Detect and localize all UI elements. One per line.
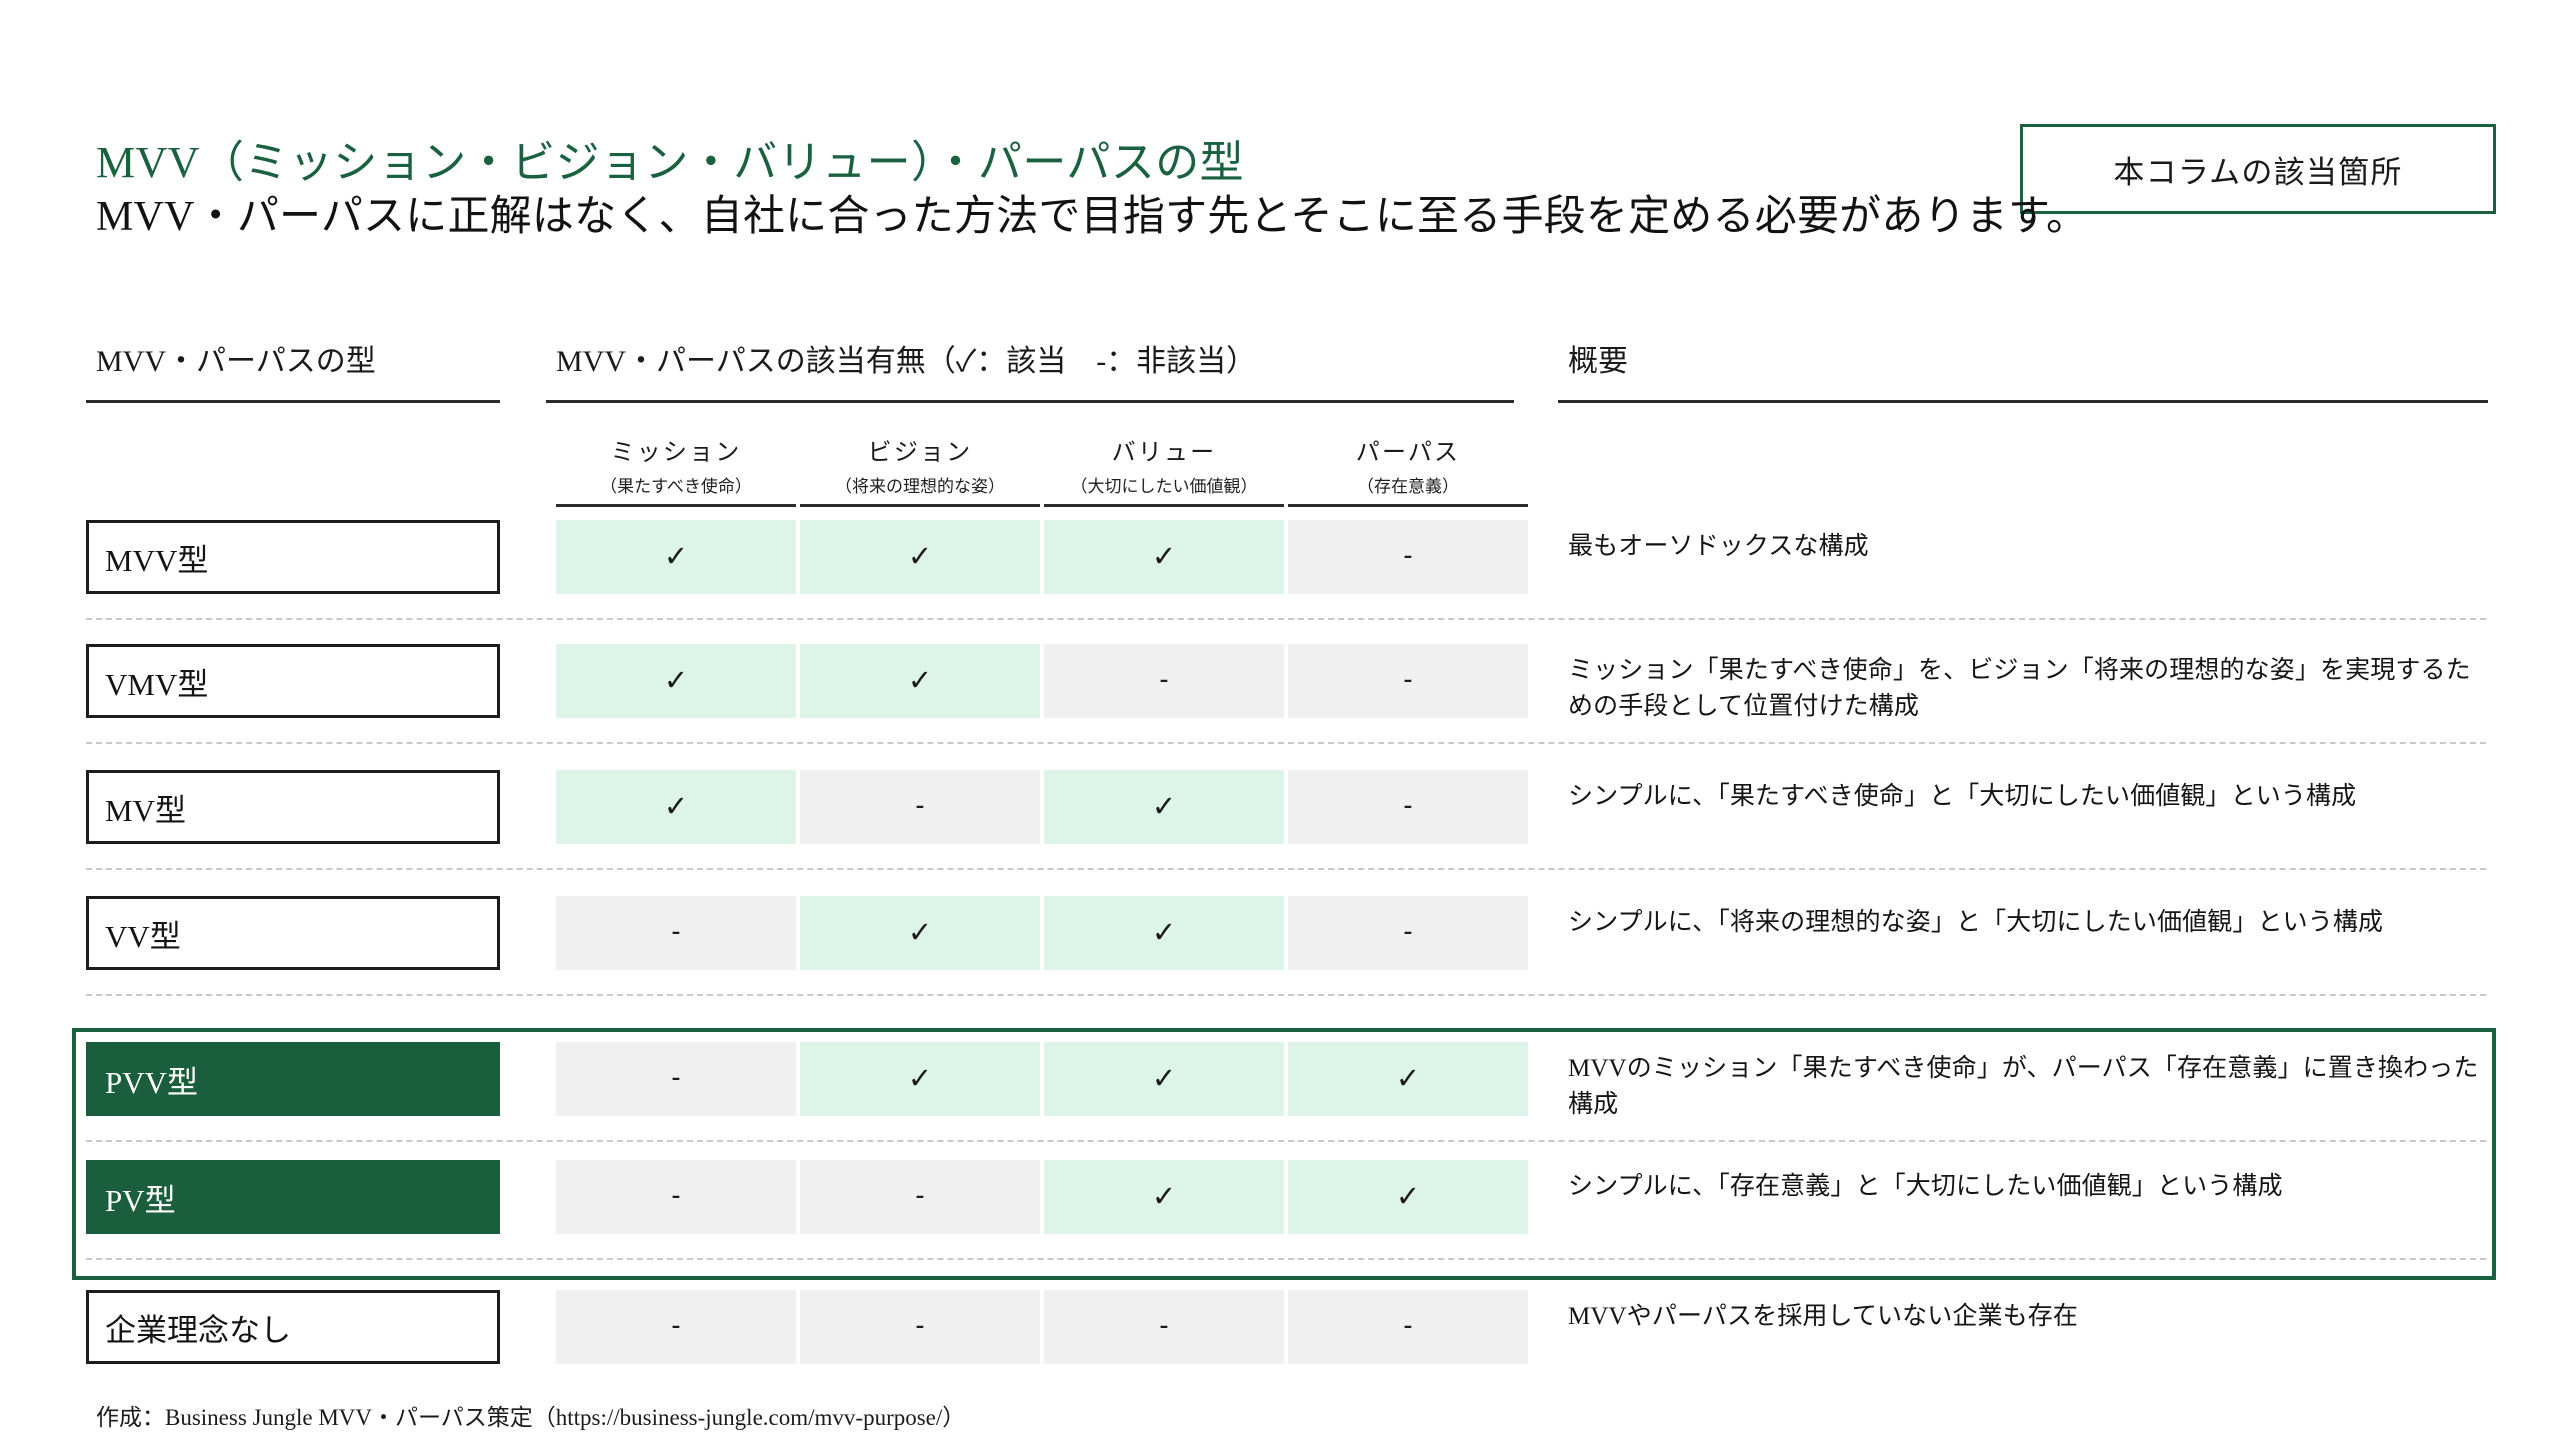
subheader-1: ミッション（果たすべき使命） [556,432,796,497]
row-type-label: MV型 [89,785,186,830]
mark-cell: ✓ [556,520,796,594]
mark-cell: - [800,770,1040,844]
mark-cell: ✓ [800,520,1040,594]
row-separator [86,618,2486,620]
row-type-label: VV型 [89,911,181,956]
dash-icon: - [1160,1312,1169,1338]
header-rule-type [86,400,500,403]
row-description: MVVやパーパスを採用していない企業も存在 [1568,1299,2488,1335]
row-description: シンプルに、「存在意義」と「大切にしたい価値観」という構成 [1568,1169,2488,1205]
row-description: 最もオーソドックスな構成 [1568,529,2488,565]
mark-cell: - [1044,1290,1284,1364]
subheader-2: ビジョン（将来の理想的な姿） [800,432,1040,497]
mark-cell: - [556,1160,796,1234]
row-separator [86,868,2486,870]
row-separator [86,742,2486,744]
dash-icon: - [916,1312,925,1338]
check-icon: ✓ [1152,543,1176,572]
row-type-box[interactable]: MV型 [86,770,500,844]
check-icon: ✓ [664,667,688,696]
mark-cell: ✓ [1044,520,1284,594]
header-match-column: MVV・パーパスの該当有無（✓：該当 -：非該当） [556,336,1256,380]
check-icon: ✓ [908,919,932,948]
mark-cell: - [556,1042,796,1116]
row-description: MVVのミッション「果たすべき使命」が、パーパス「存在意義」に置き換わった構成 [1568,1051,2488,1124]
header-summary-column: 概要 [1568,336,1628,380]
subheader-rule-4 [1288,504,1528,507]
mark-cell: ✓ [1044,1160,1284,1234]
mark-cell: ✓ [1044,1042,1284,1116]
header-rule-summary [1558,400,2488,403]
check-icon: ✓ [1152,919,1176,948]
mark-cell: ✓ [556,770,796,844]
dash-icon: - [1404,918,1413,944]
check-icon: ✓ [1152,793,1176,822]
mark-cell: ✓ [1044,896,1284,970]
dash-icon: - [1404,542,1413,568]
mark-cell: - [556,1290,796,1364]
check-icon: ✓ [1152,1183,1176,1212]
mark-cell: - [1288,520,1528,594]
mark-cell: - [556,896,796,970]
subheader-main-1: ミッション [556,432,796,467]
subheader-sub-2: （将来の理想的な姿） [800,472,1040,497]
mark-cell: ✓ [800,1042,1040,1116]
subheader-main-3: バリュー [1044,432,1284,467]
row-type-label: PV型 [89,1175,176,1220]
subheader-sub-4: （存在意義） [1288,472,1528,497]
dash-icon: - [672,1312,681,1338]
row-type-label: 企業理念なし [89,1305,291,1350]
check-icon: ✓ [664,793,688,822]
check-icon: ✓ [908,543,932,572]
mark-cell: - [1044,644,1284,718]
row-separator [86,1140,2486,1142]
dash-icon: - [1404,666,1413,692]
row-separator [86,994,2486,996]
mark-cell: ✓ [556,644,796,718]
subheader-rule-2 [800,504,1040,507]
row-separator [86,1258,2486,1260]
row-description: シンプルに、「果たすべき使命」と「大切にしたい価値観」という構成 [1568,779,2488,815]
row-type-box[interactable]: MVV型 [86,520,500,594]
mark-cell: ✓ [1044,770,1284,844]
dash-icon: - [1404,792,1413,818]
row-description: シンプルに、「将来の理想的な姿」と「大切にしたい価値観」という構成 [1568,905,2488,941]
check-icon: ✓ [1396,1065,1420,1094]
subheader-3: バリュー（大切にしたい価値観） [1044,432,1284,497]
row-type-box[interactable]: VMV型 [86,644,500,718]
subheader-main-4: パーパス [1288,432,1528,467]
subheader-rule-1 [556,504,796,507]
mark-cell: - [1288,896,1528,970]
subheader-rule-3 [1044,504,1284,507]
dash-icon: - [1404,1312,1413,1338]
subheader-main-2: ビジョン [800,432,1040,467]
mark-cell: - [800,1160,1040,1234]
mark-cell: ✓ [1288,1042,1528,1116]
mark-cell: ✓ [800,896,1040,970]
dash-icon: - [1160,666,1169,692]
dash-icon: - [916,1182,925,1208]
mark-cell: ✓ [1288,1160,1528,1234]
check-icon: ✓ [1396,1183,1420,1212]
mark-cell: ✓ [800,644,1040,718]
subheader-4: パーパス（存在意義） [1288,432,1528,497]
check-icon: ✓ [664,543,688,572]
row-type-label: PVV型 [89,1057,198,1102]
row-type-box[interactable]: 企業理念なし [86,1290,500,1364]
header-type-column: MVV・パーパスの型 [96,336,376,380]
row-description: ミッション「果たすべき使命」を、ビジョン「将来の理想的な姿」を実現するための手段… [1568,653,2488,726]
row-type-label: MVV型 [89,535,208,580]
mark-cell: - [800,1290,1040,1364]
row-type-box[interactable]: PVV型 [86,1042,500,1116]
mvv-type-table: MVV・パーパスの型MVV・パーパスの該当有無（✓：該当 -：非該当）概要ミッシ… [0,0,2560,1440]
dash-icon: - [916,792,925,818]
row-type-label: VMV型 [89,659,208,704]
header-rule-match [546,400,1514,403]
dash-icon: - [672,918,681,944]
check-icon: ✓ [908,1065,932,1094]
mark-cell: - [1288,770,1528,844]
subheader-sub-1: （果たすべき使命） [556,472,796,497]
dash-icon: - [672,1064,681,1090]
mark-cell: - [1288,1290,1528,1364]
row-type-box[interactable]: VV型 [86,896,500,970]
subheader-sub-3: （大切にしたい価値観） [1044,472,1284,497]
mark-cell: - [1288,644,1528,718]
check-icon: ✓ [908,667,932,696]
source-credit: 作成：Business Jungle MVV・パーパス策定（https://bu… [96,1398,965,1432]
check-icon: ✓ [1152,1065,1176,1094]
dash-icon: - [672,1182,681,1208]
row-type-box[interactable]: PV型 [86,1160,500,1234]
